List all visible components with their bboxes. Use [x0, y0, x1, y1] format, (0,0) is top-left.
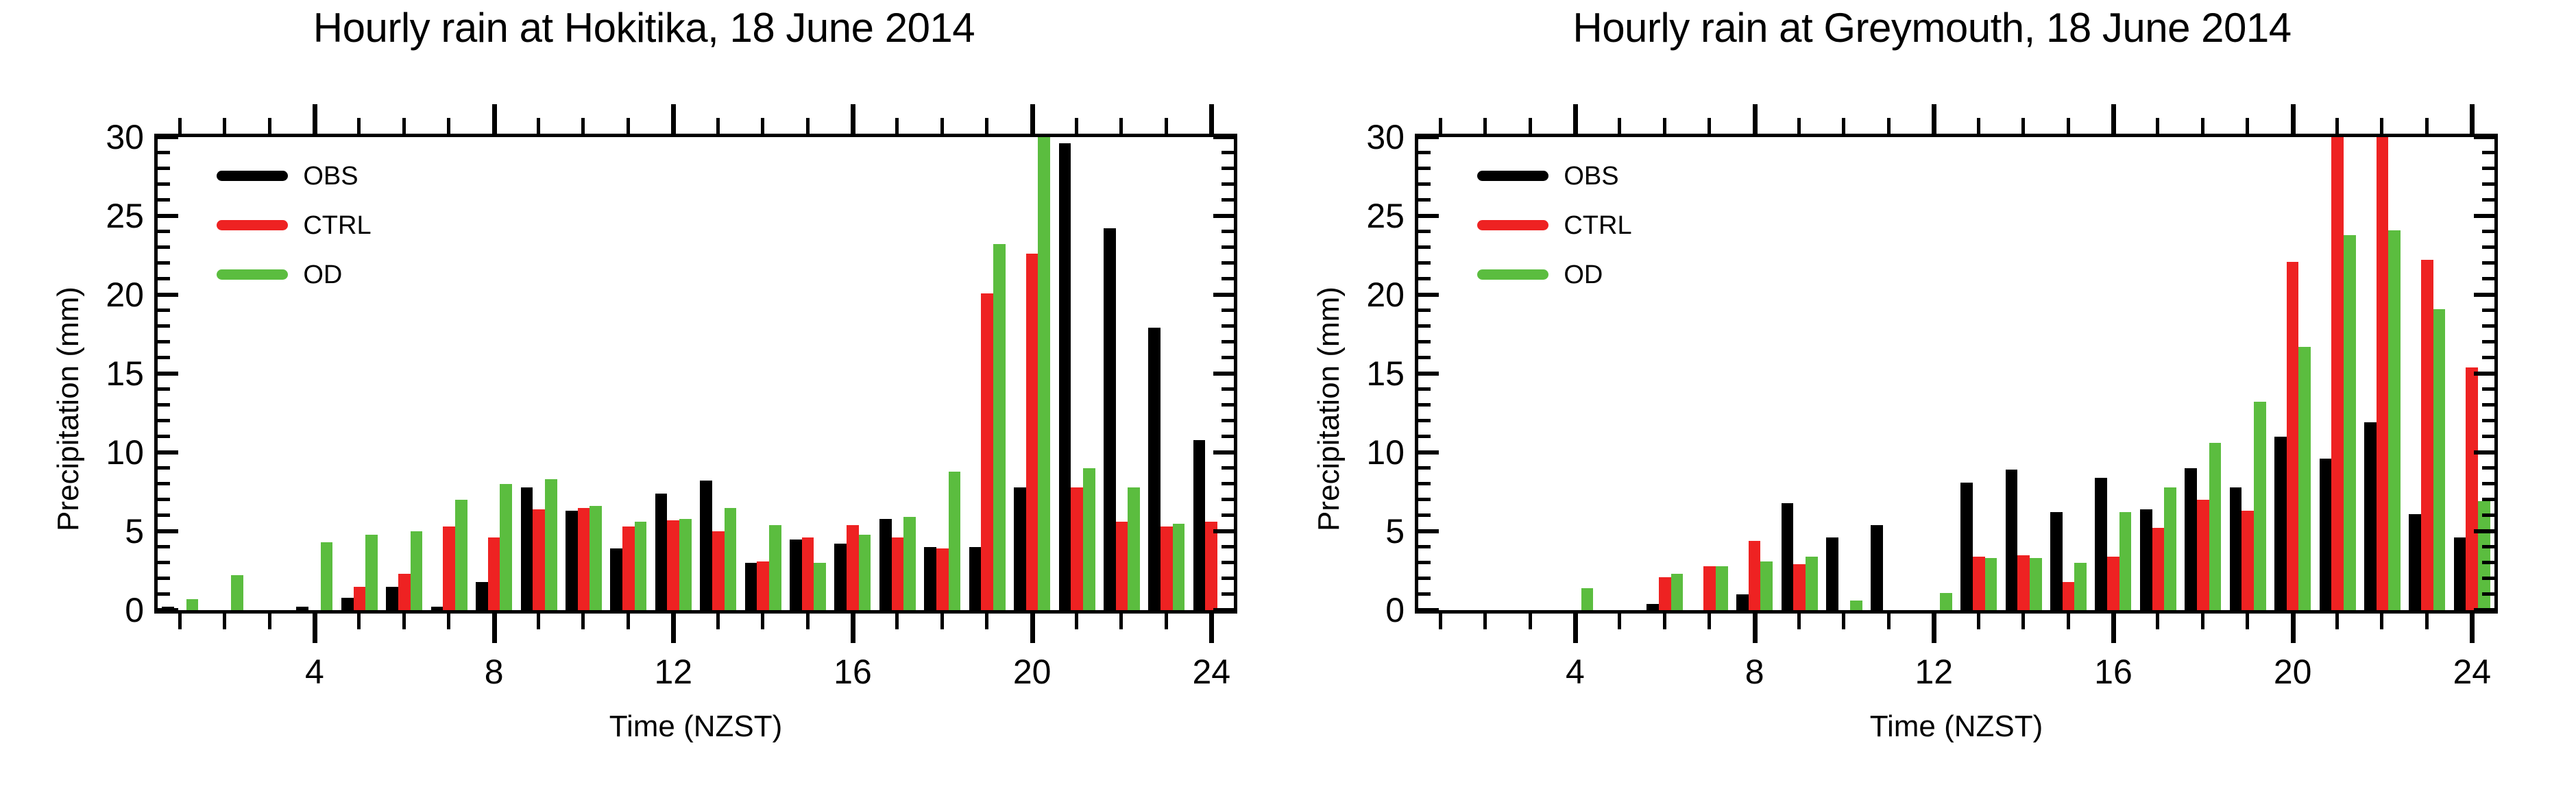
y-tick-greymouth-left-27 [1418, 182, 1431, 186]
bar-greymouth-obs-h14 [2006, 470, 2018, 610]
x-tick-label-hokitika-16: 16 [812, 655, 894, 689]
x-tick-hokitika-bottom-23 [1165, 612, 1168, 629]
x-tick-greymouth-bottom-14 [2021, 612, 2025, 629]
x-tick-hokitika-bottom-3 [268, 612, 271, 629]
bar-hokitika-ctrl-h5 [354, 587, 366, 611]
bar-hokitika-od-h17 [903, 517, 916, 610]
x-tick-label-hokitika-8: 8 [453, 655, 535, 689]
line-swatch-black [1477, 171, 1548, 181]
bar-greymouth-ctrl-h17 [2152, 528, 2165, 610]
chart-title-hokitika: Hourly rain at Hokitika, 18 June 2014 [0, 4, 1288, 51]
y-tick-greymouth-right-28 [2482, 167, 2494, 170]
legend-item-obs-greymouth[interactable]: OBS [1477, 163, 1631, 189]
bar-hokitika-obs-h8 [476, 582, 488, 610]
y-tick-label-hokitika-5: 5 [69, 514, 144, 548]
bar-greymouth-od-h20 [2298, 347, 2311, 610]
bar-hokitika-ctrl-h18 [936, 548, 949, 610]
bar-hokitika-ctrl-h9 [533, 509, 545, 610]
y-tick-greymouth-right-25 [2474, 214, 2494, 218]
y-tick-hokitika-right-13 [1222, 403, 1234, 407]
y-tick-hokitika-right-12 [1222, 419, 1234, 422]
x-tick-greymouth-bottom-22 [2380, 612, 2383, 629]
y-tick-greymouth-left-2 [1418, 577, 1431, 580]
x-tick-greymouth-top-21 [2335, 118, 2339, 136]
y-tick-greymouth-left-3 [1418, 561, 1431, 564]
x-tick-hokitika-top-21 [1075, 118, 1078, 136]
bar-greymouth-od-h4 [1581, 588, 1594, 610]
y-tick-greymouth-left-15 [1418, 372, 1439, 376]
bar-greymouth-obs-h22 [2364, 422, 2377, 610]
x-tick-hokitika-bottom-21 [1075, 612, 1078, 629]
bar-hokitika-obs-h24 [1193, 440, 1206, 610]
x-tick-label-hokitika-12: 12 [632, 655, 714, 689]
bar-hokitika-obs-h23 [1148, 328, 1161, 610]
bar-greymouth-obs-h21 [2320, 459, 2332, 610]
bar-hokitika-od-h14 [769, 525, 781, 610]
y-tick-hokitika-left-28 [158, 167, 170, 170]
y-tick-hokitika-left-13 [158, 403, 170, 407]
x-tick-hokitika-top-23 [1165, 118, 1168, 136]
x-tick-hokitika-bottom-10 [581, 612, 585, 629]
legend-item-od-greymouth[interactable]: OD [1477, 262, 1631, 288]
y-tick-greymouth-right-3 [2482, 561, 2494, 564]
x-tick-hokitika-top-14 [761, 118, 764, 136]
x-tick-hokitika-bottom-16 [851, 612, 855, 643]
bar-hokitika-ctrl-h14 [757, 561, 769, 610]
y-tick-label-greymouth-5: 5 [1329, 514, 1405, 548]
y-tick-greymouth-right-8 [2482, 482, 2494, 485]
bar-greymouth-od-h21 [2344, 235, 2356, 610]
bar-hokitika-obs-h15 [790, 540, 802, 611]
bar-greymouth-od-h17 [2164, 487, 2176, 610]
y-tick-greymouth-left-0 [1418, 608, 1439, 612]
y-tick-hokitika-left-25 [158, 214, 178, 218]
bar-hokitika-ctrl-h13 [712, 531, 725, 610]
bar-hokitika-od-h19 [993, 244, 1006, 610]
y-tick-greymouth-right-17 [2482, 340, 2494, 343]
bar-hokitika-od-h6 [411, 531, 423, 610]
x-tick-greymouth-bottom-9 [1797, 612, 1801, 629]
y-tick-hokitika-left-22 [158, 261, 170, 265]
y-tick-greymouth-right-29 [2482, 151, 2494, 154]
bar-greymouth-od-h22 [2388, 230, 2401, 610]
bar-hokitika-ctrl-h7 [443, 526, 455, 610]
x-axis-label-hokitika: Time (NZST) [158, 710, 1234, 744]
y-tick-greymouth-left-29 [1418, 151, 1431, 154]
x-tick-greymouth-bottom-3 [1529, 612, 1532, 629]
y-tick-hokitika-right-10 [1213, 450, 1234, 455]
y-tick-hokitika-left-16 [158, 356, 170, 359]
y-tick-greymouth-right-14 [2482, 387, 2494, 391]
x-tick-hokitika-bottom-4 [313, 612, 317, 643]
y-tick-hokitika-right-11 [1222, 435, 1234, 438]
bar-greymouth-od-h6 [1671, 574, 1684, 610]
x-tick-greymouth-bottom-6 [1663, 612, 1666, 629]
bar-greymouth-ctrl-h15 [2063, 582, 2075, 610]
chart-panel-hokitika: Hourly rain at Hokitika, 18 June 2014 Pr… [0, 0, 1288, 787]
x-tick-greymouth-bottom-12 [1932, 612, 1936, 643]
bar-hokitika-ctrl-h15 [802, 537, 814, 610]
y-tick-hokitika-left-12 [158, 419, 170, 422]
y-tick-greymouth-right-0 [2474, 608, 2494, 612]
y-tick-greymouth-left-1 [1418, 592, 1431, 596]
bar-greymouth-obs-h8 [1736, 594, 1749, 610]
y-tick-greymouth-right-6 [2482, 513, 2494, 517]
x-tick-hokitika-top-15 [806, 118, 810, 136]
x-tick-hokitika-top-7 [447, 118, 450, 136]
y-tick-hokitika-left-9 [158, 466, 170, 470]
y-tick-hokitika-right-0 [1213, 608, 1234, 612]
bar-hokitika-ctrl-h23 [1161, 526, 1173, 610]
y-tick-hokitika-right-5 [1213, 529, 1234, 533]
y-tick-hokitika-right-7 [1222, 498, 1234, 501]
x-tick-greymouth-bottom-5 [1618, 612, 1621, 629]
figure-root: Hourly rain at Hokitika, 18 June 2014 Pr… [0, 0, 2576, 787]
x-tick-hokitika-top-19 [985, 118, 988, 136]
bar-hokitika-od-h7 [455, 500, 467, 610]
y-tick-hokitika-left-3 [158, 561, 170, 564]
bar-greymouth-obs-h15 [2050, 512, 2063, 610]
y-tick-greymouth-right-4 [2482, 545, 2494, 548]
y-tick-hokitika-right-28 [1222, 167, 1234, 170]
bar-hokitika-obs-h18 [924, 547, 936, 610]
x-tick-greymouth-top-2 [1483, 118, 1487, 136]
bar-hokitika-obs-h17 [879, 519, 892, 610]
legend-item-ctrl-greymouth[interactable]: CTRL [1477, 213, 1631, 239]
y-tick-greymouth-left-6 [1418, 513, 1431, 517]
bar-greymouth-obs-h23 [2409, 514, 2421, 610]
x-tick-greymouth-bottom-4 [1573, 612, 1578, 643]
y-tick-hokitika-right-19 [1222, 308, 1234, 312]
bar-hokitika-od-h8 [500, 484, 512, 610]
line-swatch-red [1477, 220, 1548, 230]
y-tick-hokitika-right-23 [1222, 245, 1234, 249]
x-tick-greymouth-top-10 [1842, 118, 1845, 136]
y-tick-greymouth-right-2 [2482, 577, 2494, 580]
y-tick-hokitika-left-29 [158, 151, 170, 154]
y-tick-greymouth-left-9 [1418, 466, 1431, 470]
y-tick-hokitika-left-1 [158, 592, 170, 596]
y-tick-label-greymouth-0: 0 [1329, 593, 1405, 627]
y-tick-greymouth-left-26 [1418, 198, 1431, 202]
bar-hokitika-obs-h5 [341, 598, 354, 610]
y-tick-greymouth-left-7 [1418, 498, 1431, 501]
y-tick-hokitika-right-26 [1222, 198, 1234, 202]
x-tick-greymouth-top-5 [1618, 118, 1621, 136]
x-tick-hokitika-bottom-15 [806, 612, 810, 629]
bar-greymouth-ctrl-h20 [2287, 262, 2299, 610]
x-tick-hokitika-top-2 [223, 118, 226, 136]
x-tick-greymouth-bottom-1 [1439, 612, 1442, 629]
x-tick-hokitika-bottom-22 [1119, 612, 1123, 629]
x-tick-hokitika-top-17 [895, 118, 899, 136]
y-tick-greymouth-right-27 [2482, 182, 2494, 186]
y-tick-greymouth-right-13 [2482, 403, 2494, 407]
x-tick-hokitika-bottom-12 [671, 612, 676, 643]
y-tick-greymouth-right-19 [2482, 308, 2494, 312]
y-tick-hokitika-left-21 [158, 277, 170, 280]
x-tick-label-hokitika-20: 20 [991, 655, 1073, 689]
y-axis-label-greymouth: Precipitation (mm) [1312, 287, 1346, 531]
bar-hokitika-od-h11 [635, 522, 647, 610]
y-tick-greymouth-right-18 [2482, 324, 2494, 328]
y-tick-greymouth-left-19 [1418, 308, 1431, 312]
y-tick-greymouth-left-30 [1418, 135, 1439, 139]
bar-greymouth-ctrl-h19 [2241, 511, 2254, 610]
y-tick-greymouth-left-14 [1418, 387, 1431, 391]
y-tick-greymouth-right-11 [2482, 435, 2494, 438]
bar-hokitika-ctrl-h19 [981, 293, 993, 610]
bar-hokitika-ctrl-h12 [667, 520, 679, 610]
bar-greymouth-ctrl-h13 [1973, 557, 1985, 610]
x-tick-hokitika-bottom-7 [447, 612, 450, 629]
bar-greymouth-obs-h24 [2454, 537, 2466, 610]
y-tick-greymouth-left-24 [1418, 230, 1431, 233]
chart-panel-greymouth: Hourly rain at Greymouth, 18 June 2014 P… [1288, 0, 2576, 787]
bar-greymouth-od-h15 [2074, 563, 2087, 610]
line-swatch-green [1477, 269, 1548, 280]
bar-hokitika-obs-h20 [1014, 487, 1026, 610]
x-tick-greymouth-bottom-11 [1887, 612, 1891, 629]
x-tick-hokitika-top-13 [716, 118, 720, 136]
bar-greymouth-ctrl-h21 [2331, 137, 2344, 610]
y-tick-hokitika-right-14 [1222, 387, 1234, 391]
bar-greymouth-obs-h10 [1826, 537, 1838, 610]
y-tick-greymouth-right-21 [2482, 277, 2494, 280]
y-tick-hokitika-right-1 [1222, 592, 1234, 596]
bar-greymouth-obs-h17 [2140, 509, 2152, 610]
bar-greymouth-od-h19 [2254, 402, 2266, 610]
y-tick-greymouth-left-16 [1418, 356, 1431, 359]
bar-greymouth-ctrl-h8 [1749, 541, 1761, 610]
x-tick-label-greymouth-12: 12 [1893, 655, 1975, 689]
x-tick-greymouth-bottom-20 [2291, 612, 2296, 643]
y-tick-hokitika-left-15 [158, 372, 178, 376]
bar-hokitika-od-h15 [814, 563, 826, 610]
x-tick-greymouth-top-9 [1797, 118, 1801, 136]
y-tick-hokitika-right-27 [1222, 182, 1234, 186]
x-tick-greymouth-top-19 [2246, 118, 2249, 136]
x-tick-greymouth-top-22 [2380, 118, 2383, 136]
y-tick-greymouth-right-16 [2482, 356, 2494, 359]
y-tick-greymouth-left-5 [1418, 529, 1439, 533]
line-swatch-green [217, 269, 288, 280]
y-tick-hokitika-left-20 [158, 293, 178, 297]
x-axis-label-greymouth: Time (NZST) [1418, 710, 2494, 744]
y-tick-hokitika-left-30 [158, 135, 178, 139]
bar-greymouth-od-h14 [2030, 558, 2042, 610]
bar-greymouth-ctrl-h9 [1793, 564, 1806, 610]
y-tick-hokitika-left-2 [158, 577, 170, 580]
bar-hokitika-od-h22 [1128, 487, 1140, 610]
y-tick-hokitika-left-14 [158, 387, 170, 391]
bar-hokitika-ctrl-h24 [1205, 522, 1217, 610]
x-tick-hokitika-bottom-2 [223, 612, 226, 629]
x-tick-hokitika-top-6 [402, 118, 406, 136]
y-tick-hokitika-left-18 [158, 324, 170, 328]
legend-label: OD [303, 262, 342, 288]
y-tick-hokitika-left-24 [158, 230, 170, 233]
bar-hokitika-ctrl-h8 [488, 537, 500, 610]
x-tick-hokitika-top-4 [313, 104, 317, 136]
bar-hokitika-od-h20 [1038, 137, 1050, 610]
y-tick-greymouth-left-12 [1418, 419, 1431, 422]
y-tick-label-hokitika-10: 10 [69, 435, 144, 470]
y-tick-hokitika-left-5 [158, 529, 178, 533]
bar-hokitika-obs-h11 [610, 548, 622, 610]
y-tick-greymouth-right-10 [2474, 450, 2494, 455]
x-tick-hokitika-top-10 [581, 118, 585, 136]
x-tick-greymouth-top-11 [1887, 118, 1891, 136]
y-tick-hokitika-right-3 [1222, 561, 1234, 564]
y-tick-label-hokitika-15: 15 [69, 356, 144, 391]
x-tick-hokitika-bottom-8 [492, 612, 497, 643]
bar-hokitika-od-h1 [186, 599, 199, 610]
x-tick-hokitika-top-9 [537, 118, 540, 136]
y-tick-greymouth-right-20 [2474, 293, 2494, 297]
y-tick-greymouth-left-22 [1418, 261, 1431, 265]
x-tick-hokitika-bottom-14 [761, 612, 764, 629]
bar-hokitika-od-h12 [679, 519, 692, 610]
x-tick-greymouth-top-12 [1932, 104, 1936, 136]
legend-item-obs-hokitika[interactable]: OBS [217, 163, 371, 189]
legend-greymouth: OBSCTRLOD [1477, 163, 1631, 288]
x-tick-greymouth-top-4 [1573, 104, 1578, 136]
y-tick-hokitika-left-17 [158, 340, 170, 343]
x-tick-hokitika-bottom-19 [985, 612, 988, 629]
x-tick-greymouth-top-8 [1753, 104, 1758, 136]
y-tick-hokitika-right-30 [1213, 135, 1234, 139]
line-swatch-red [217, 220, 288, 230]
legend-label: CTRL [303, 213, 371, 239]
y-tick-hokitika-right-6 [1222, 513, 1234, 517]
x-tick-greymouth-bottom-15 [2067, 612, 2070, 629]
y-tick-label-hokitika-30: 30 [69, 120, 144, 154]
y-tick-greymouth-left-4 [1418, 545, 1431, 548]
bar-greymouth-ctrl-h22 [2377, 137, 2389, 610]
chart-title-greymouth: Hourly rain at Greymouth, 18 June 2014 [1288, 4, 2576, 51]
x-tick-greymouth-bottom-8 [1753, 612, 1758, 643]
y-tick-hokitika-left-11 [158, 435, 170, 438]
y-tick-hokitika-left-4 [158, 545, 170, 548]
bar-hokitika-od-h23 [1173, 524, 1185, 611]
x-tick-hokitika-top-12 [671, 104, 676, 136]
x-tick-hokitika-bottom-17 [895, 612, 899, 629]
x-tick-greymouth-top-1 [1439, 118, 1442, 136]
y-tick-hokitika-right-25 [1213, 214, 1234, 218]
bar-hokitika-obs-h9 [521, 487, 533, 610]
x-tick-greymouth-top-17 [2156, 118, 2159, 136]
bar-greymouth-obs-h20 [2274, 437, 2287, 610]
x-tick-greymouth-top-24 [2470, 104, 2475, 136]
x-tick-greymouth-top-3 [1529, 118, 1532, 136]
y-tick-hokitika-right-21 [1222, 277, 1234, 280]
x-tick-greymouth-top-16 [2111, 104, 2116, 136]
y-tick-greymouth-left-28 [1418, 167, 1431, 170]
bar-hokitika-ctrl-h20 [1026, 254, 1038, 610]
x-tick-greymouth-top-7 [1708, 118, 1711, 136]
y-tick-hokitika-right-15 [1213, 372, 1234, 376]
bar-greymouth-ctrl-h23 [2421, 260, 2433, 610]
y-tick-label-greymouth-25: 25 [1329, 199, 1405, 233]
legend-item-ctrl-hokitika[interactable]: CTRL [217, 213, 371, 239]
bar-hokitika-obs-h14 [745, 563, 757, 610]
y-tick-label-greymouth-10: 10 [1329, 435, 1405, 470]
x-tick-hokitika-top-22 [1119, 118, 1123, 136]
y-tick-label-hokitika-25: 25 [69, 199, 144, 233]
x-tick-hokitika-bottom-9 [537, 612, 540, 629]
bar-hokitika-od-h5 [365, 535, 378, 610]
bar-greymouth-od-h18 [2209, 443, 2222, 610]
bar-hokitika-obs-h21 [1059, 143, 1071, 610]
y-tick-hokitika-left-26 [158, 198, 170, 202]
y-tick-hokitika-left-19 [158, 308, 170, 312]
x-tick-label-greymouth-20: 20 [2252, 655, 2334, 689]
y-tick-greymouth-right-9 [2482, 466, 2494, 470]
bar-greymouth-ctrl-h16 [2107, 557, 2119, 610]
x-tick-hokitika-bottom-18 [940, 612, 944, 629]
x-tick-hokitika-top-20 [1030, 104, 1035, 136]
x-tick-hokitika-bottom-5 [357, 612, 361, 629]
x-tick-hokitika-top-18 [940, 118, 944, 136]
x-tick-hokitika-bottom-20 [1030, 612, 1035, 643]
legend-item-od-hokitika[interactable]: OD [217, 262, 371, 288]
x-tick-greymouth-bottom-13 [1977, 612, 1980, 629]
bar-greymouth-od-h8 [1760, 561, 1773, 610]
x-tick-greymouth-top-20 [2291, 104, 2296, 136]
bar-hokitika-obs-h13 [700, 481, 712, 610]
x-tick-label-greymouth-16: 16 [2072, 655, 2154, 689]
bar-hokitika-obs-h12 [655, 494, 668, 610]
y-tick-greymouth-right-1 [2482, 592, 2494, 596]
y-tick-hokitika-right-2 [1222, 577, 1234, 580]
x-tick-hokitika-top-3 [268, 118, 271, 136]
y-tick-hokitika-right-17 [1222, 340, 1234, 343]
legend-label: OBS [303, 163, 358, 189]
x-tick-hokitika-top-5 [357, 118, 361, 136]
bar-greymouth-ctrl-h7 [1703, 566, 1716, 610]
y-tick-greymouth-left-13 [1418, 403, 1431, 407]
legend-label: CTRL [1564, 213, 1631, 239]
x-tick-label-hokitika-4: 4 [274, 655, 356, 689]
x-tick-greymouth-top-14 [2021, 118, 2025, 136]
bar-greymouth-obs-h16 [2095, 478, 2107, 610]
y-tick-greymouth-left-17 [1418, 340, 1431, 343]
y-tick-greymouth-right-30 [2474, 135, 2494, 139]
y-tick-label-greymouth-15: 15 [1329, 356, 1405, 391]
y-tick-label-greymouth-30: 30 [1329, 120, 1405, 154]
bar-greymouth-ctrl-h14 [2017, 555, 2030, 611]
bar-greymouth-obs-h19 [2230, 487, 2242, 610]
y-tick-greymouth-left-18 [1418, 324, 1431, 328]
bar-greymouth-obs-h18 [2185, 468, 2197, 610]
y-tick-hokitika-left-0 [158, 608, 178, 612]
y-tick-hokitika-right-20 [1213, 293, 1234, 297]
bar-greymouth-obs-h13 [1960, 483, 1973, 610]
bar-hokitika-ctrl-h10 [578, 508, 590, 611]
y-tick-greymouth-right-22 [2482, 261, 2494, 265]
bar-greymouth-od-h23 [2433, 309, 2446, 610]
bar-hokitika-ctrl-h17 [892, 537, 904, 610]
x-tick-hokitika-top-1 [178, 118, 182, 136]
y-tick-greymouth-left-20 [1418, 293, 1439, 297]
bar-greymouth-od-h10 [1850, 601, 1862, 610]
bar-hokitika-od-h13 [725, 508, 737, 611]
bar-greymouth-od-h9 [1806, 557, 1818, 610]
legend-label: OD [1564, 262, 1603, 288]
x-tick-hokitika-top-8 [492, 104, 497, 136]
y-tick-label-greymouth-20: 20 [1329, 278, 1405, 312]
